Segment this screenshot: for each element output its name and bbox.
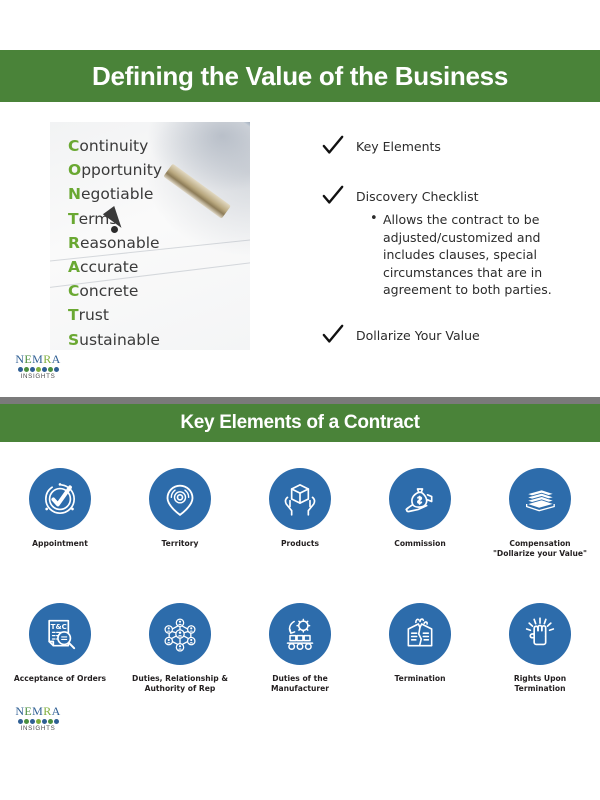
logo-chain-divider	[10, 719, 66, 724]
contract-photo: Continuity Opportunity Negotiable Terms …	[50, 122, 250, 350]
checklist-item: Discovery Checklist Allows the contract …	[322, 188, 574, 299]
nemra-insights-logo-footer: NEMRA INSIGHTS	[10, 705, 66, 732]
acrostic-rest: ccurate	[80, 258, 138, 276]
acrostic-row: Negotiable	[68, 182, 162, 206]
checklist-item: Key Elements	[322, 138, 574, 156]
pen-barrel	[152, 122, 250, 144]
acrostic-capital: O	[68, 161, 81, 179]
icon-label: Rights Upon Termination	[491, 674, 589, 694]
factory-gear-boxes-icon	[269, 603, 331, 665]
icon-label: Duties of the Manufacturer	[251, 674, 349, 694]
people-network-icon	[149, 603, 211, 665]
logo-letter: A	[52, 352, 61, 366]
acrostic-row: Concrete	[68, 279, 162, 303]
acrostic-row: Continuity	[68, 134, 162, 158]
contract-acrostic: Continuity Opportunity Negotiable Terms …	[68, 134, 162, 350]
icon-label: Compensation "Dollarize your Value"	[491, 539, 589, 559]
checkmark-icon	[322, 185, 344, 207]
acrostic-capital: N	[68, 185, 81, 203]
icon-label: Acceptance of Orders	[14, 674, 106, 684]
hand-money-bag-icon	[389, 468, 451, 530]
logo-chain-divider	[10, 367, 66, 372]
acrostic-row: Reasonable	[68, 231, 162, 255]
icon-cell-compensation[interactable]: Compensation "Dollarize your Value"	[480, 468, 600, 559]
acrostic-capital: T	[68, 306, 79, 324]
acrostic-rest: oncrete	[79, 282, 138, 300]
logo-subtitle: INSIGHTS	[10, 725, 66, 732]
acrostic-rest: egotiable	[81, 185, 153, 203]
icon-label: Duties, Relationship & Authority of Rep	[131, 674, 229, 694]
top-banner: Defining the Value of the Business	[0, 50, 600, 102]
checklist-item-label: Discovery Checklist	[356, 189, 479, 204]
acrostic-row: Opportunity	[68, 158, 162, 182]
icon-label: Appointment	[32, 539, 88, 549]
icon-label: Territory	[162, 539, 199, 549]
acrostic-rest: ontinuity	[79, 137, 148, 155]
acrostic-row: Trust	[68, 303, 162, 327]
icon-cell-commission[interactable]: Commission	[360, 468, 480, 559]
icon-cell-acceptance-of-orders[interactable]: T&C Acceptance of Orders	[0, 603, 120, 694]
acrostic-capital: C	[68, 137, 79, 155]
acrostic-row: Accurate	[68, 255, 162, 279]
acrostic-capital: R	[68, 234, 80, 252]
icon-cell-duties-manufacturer[interactable]: Duties of the Manufacturer	[240, 603, 360, 694]
logo-letter: E	[24, 352, 32, 366]
icon-cell-appointment[interactable]: Appointment	[0, 468, 120, 559]
nemra-insights-logo: NEMRA INSIGHTS	[10, 353, 66, 380]
logo-letter: R	[43, 352, 51, 366]
acrostic-rest: easonable	[80, 234, 160, 252]
icon-cell-rights-upon-termination[interactable]: Rights Upon Termination	[480, 603, 600, 694]
acrostic-capital: S	[68, 331, 79, 349]
svg-text:T&C: T&C	[51, 622, 67, 631]
icon-cell-duties-relationship[interactable]: Duties, Relationship & Authority of Rep	[120, 603, 240, 694]
page-title: Defining the Value of the Business	[92, 61, 508, 92]
checklist-item-label: Key Elements	[356, 139, 441, 154]
checkmark-icon	[322, 135, 344, 157]
pen-grip	[163, 164, 231, 219]
checklist-sublist: Allows the contract to be adjusted/custo…	[370, 211, 574, 299]
checkmark-icon	[322, 324, 344, 346]
checkmark-circle-icon	[29, 468, 91, 530]
logo-wordmark: NEMRA	[10, 705, 66, 718]
logo-letter: M	[32, 352, 43, 366]
acrostic-capital: A	[68, 258, 80, 276]
acrostic-rest: rust	[79, 306, 109, 324]
checklist: Key Elements Discovery Checklist Allows …	[322, 138, 574, 345]
logo-wordmark: NEMRA	[10, 353, 66, 366]
acrostic-capital: C	[68, 282, 79, 300]
icon-label: Commission	[394, 539, 445, 549]
hands-holding-box-icon	[269, 468, 331, 530]
infographic-page: Defining the Value of the Business Conti…	[0, 0, 600, 800]
acrostic-capital: T	[68, 210, 79, 228]
checklist-item-label: Dollarize Your Value	[356, 328, 480, 343]
logo-letter: R	[43, 704, 51, 718]
acrostic-row: Sustainable	[68, 328, 162, 350]
acrostic-rest: ustainable	[79, 331, 160, 349]
acrostic-row: Terms	[68, 207, 162, 231]
icon-cell-territory[interactable]: Territory	[120, 468, 240, 559]
raised-fist-icon	[509, 603, 571, 665]
logo-subtitle: INSIGHTS	[10, 373, 66, 380]
acrostic-rest: pportunity	[81, 161, 162, 179]
icon-cell-products[interactable]: Products	[240, 468, 360, 559]
icon-cell-termination[interactable]: Termination	[360, 603, 480, 694]
hand-tearing-document-icon	[389, 603, 451, 665]
icon-label: Products	[281, 539, 319, 549]
section-title: Key Elements of a Contract	[180, 412, 419, 434]
logo-letter: A	[52, 704, 61, 718]
section-banner: Key Elements of a Contract	[0, 404, 600, 442]
acrostic-rest: erms	[79, 210, 118, 228]
location-pin-icon	[149, 468, 211, 530]
gray-divider-bar	[0, 397, 600, 404]
terms-conditions-magnifier-icon: T&C	[29, 603, 91, 665]
logo-letter: E	[24, 704, 32, 718]
cash-stack-icon	[509, 468, 571, 530]
checklist-item: Dollarize Your Value	[322, 327, 574, 345]
checklist-subitem: Allows the contract to be adjusted/custo…	[370, 211, 574, 299]
icon-row-2: T&C Acceptance of Orders	[0, 603, 600, 694]
icon-label: Termination	[395, 674, 446, 684]
logo-letter: M	[32, 704, 43, 718]
icon-row-1: Appointment Territory	[0, 468, 600, 559]
